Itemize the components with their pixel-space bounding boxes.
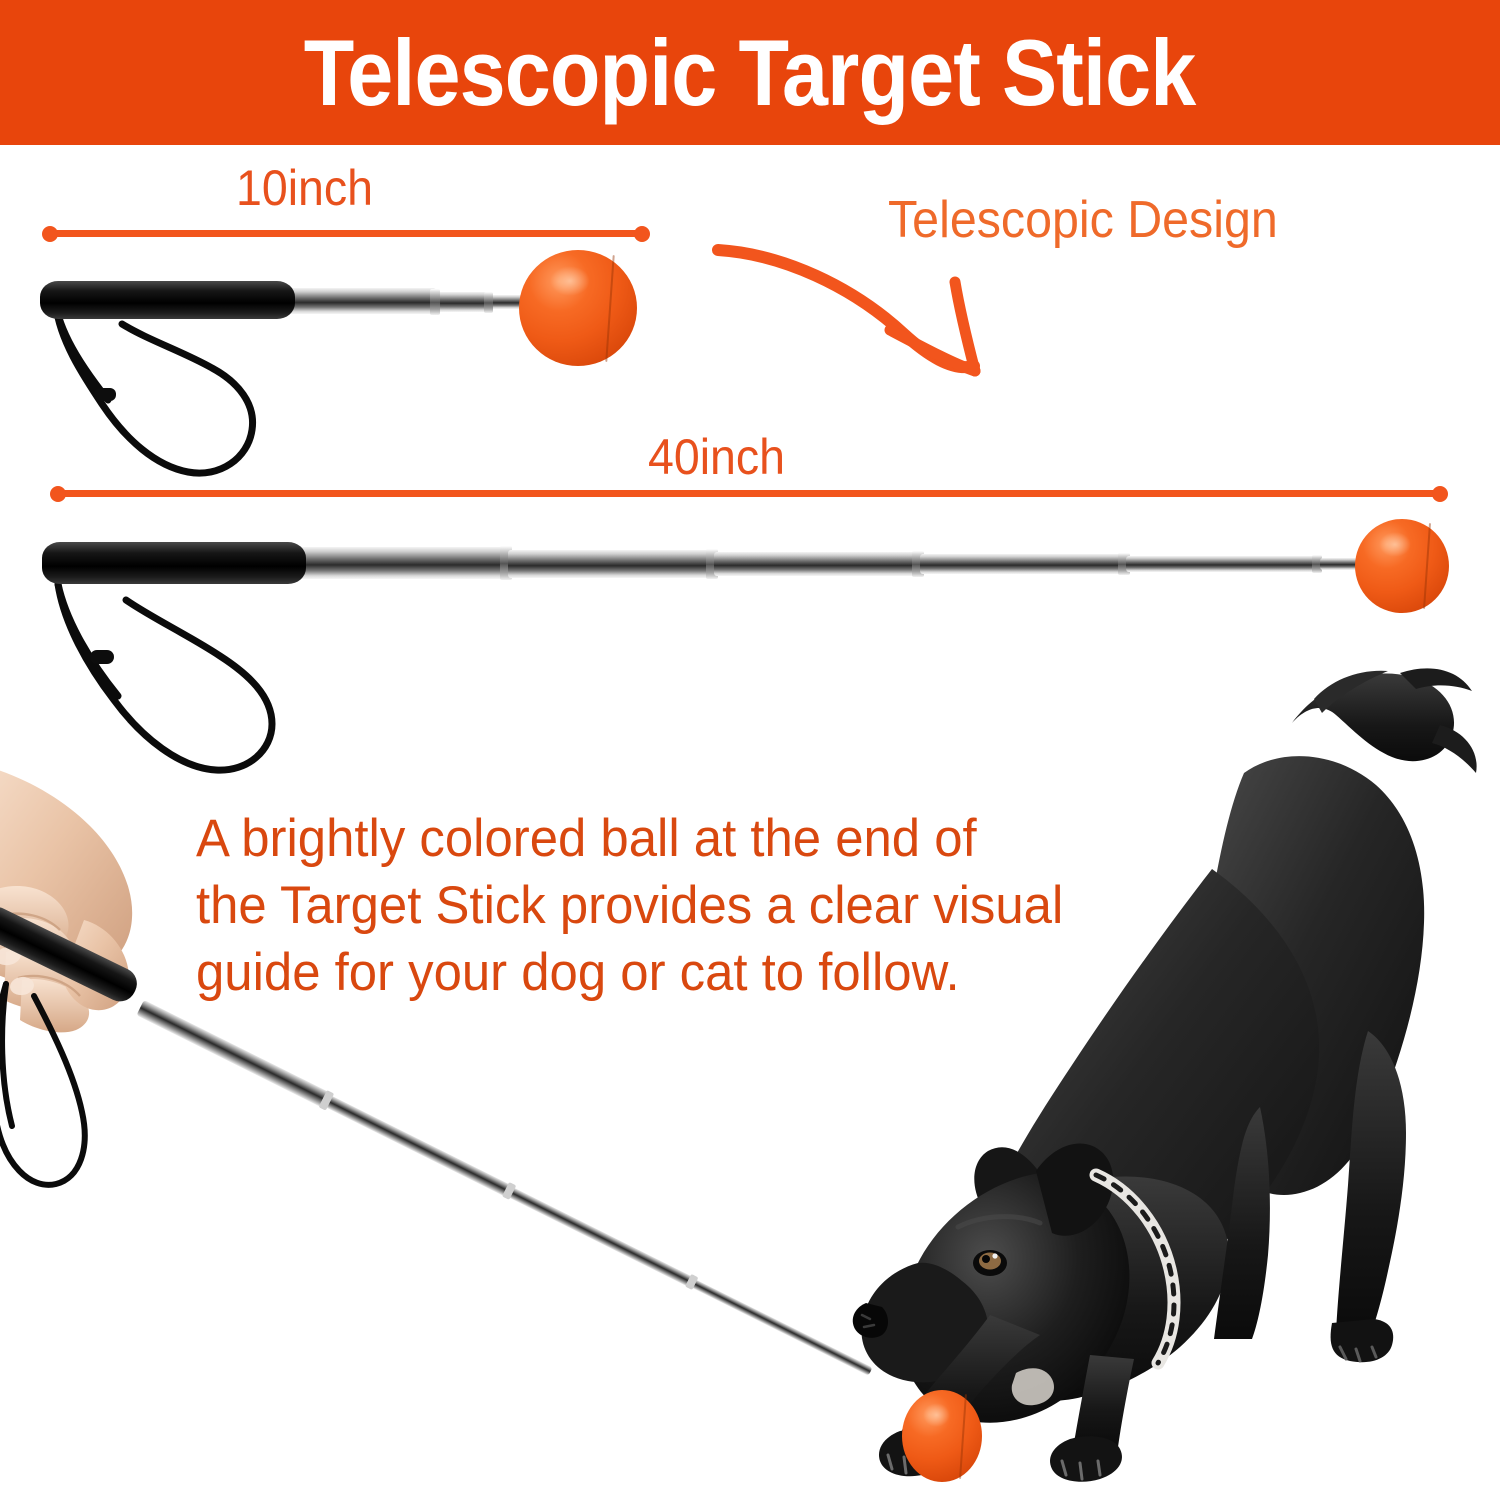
- ball-highlight: [923, 1403, 950, 1427]
- ball-seam: [1423, 523, 1431, 609]
- chrome-shaft-section-2: [508, 550, 714, 578]
- dog-tail: [1292, 668, 1477, 773]
- body-copy-text: A brightly colored ball at the end of th…: [196, 806, 1175, 1006]
- infographic-canvas: Telescopic Target Stick 10inch Telescopi: [0, 0, 1500, 1494]
- ball-highlight: [1379, 532, 1411, 556]
- chrome-shaft-section-3: [714, 552, 920, 576]
- orange-ball-icon: [1355, 519, 1449, 613]
- chrome-shaft-section-4: [920, 554, 1126, 574]
- chrome-shaft-section-1: [296, 547, 508, 579]
- chrome-shaft-section-5: [1126, 556, 1320, 572]
- wrist-strap-icon: [34, 578, 354, 788]
- foam-handle: [42, 542, 306, 584]
- ball-seam: [959, 1394, 967, 1479]
- orange-ball-icon-in-use: [902, 1390, 982, 1482]
